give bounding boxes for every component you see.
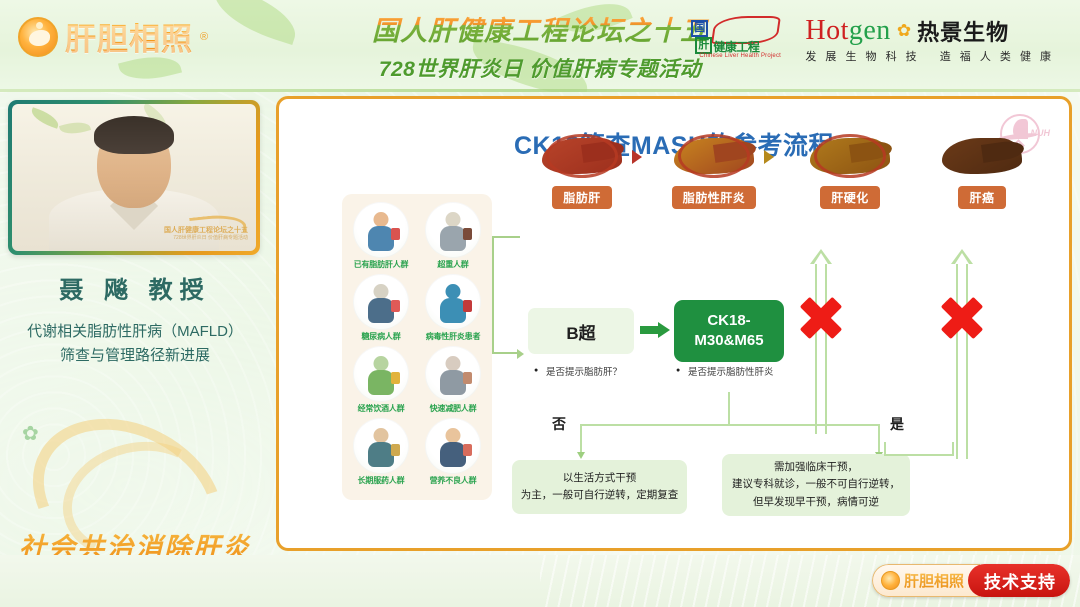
speaker-name: 聂 飚 教授 bbox=[0, 270, 270, 305]
liver-ring-icon bbox=[546, 134, 618, 178]
liver-stage-item: 脂肪肝 bbox=[522, 126, 642, 209]
reversal-arrow-cancer-foot bbox=[884, 442, 954, 456]
banner-title-line1: 国人肝健康工程论坛之十五 bbox=[330, 9, 750, 48]
event-banner: 国人肝健康工程论坛之十五 728世界肝炎日 价值肝病专题活动 bbox=[330, 9, 750, 83]
butterfly-icon: ✿ bbox=[897, 22, 911, 39]
clhp-english-name: Chinese Liver Health Project bbox=[699, 53, 781, 59]
note-ultrasound: 是否提示脂肪肝？ bbox=[546, 366, 666, 380]
liver-stage-item: 脂肪性肝炎 bbox=[654, 126, 774, 209]
alcohol-drinker-icon bbox=[353, 346, 409, 402]
tree-vertical-line bbox=[728, 392, 730, 426]
liver-stage-label: 肝癌 bbox=[958, 186, 1005, 209]
patient-group-item: 已有脂肪肝人群 bbox=[346, 202, 416, 270]
page-header: 肝胆相照 ® 国人肝健康工程论坛之十五 728世界肝炎日 价值肝病专题活动 国 … bbox=[0, 0, 1080, 92]
liver-illustration-icon bbox=[536, 126, 628, 182]
diabetes-person-icon bbox=[353, 274, 409, 330]
patient-group-label: 营养不良人群 bbox=[418, 476, 488, 486]
patient-group-label: 长期服药人群 bbox=[346, 476, 416, 486]
butterfly-icon: ✿ bbox=[22, 421, 39, 446]
tree-branch-right bbox=[878, 424, 880, 454]
hotgen-tagline-1: 发 展 生 物 科 技 bbox=[805, 51, 919, 63]
rapid-weightloss-icon bbox=[425, 346, 481, 402]
result-box-positive: 需加强临床干预， 建议专科就诊，一般不可自行逆转， 但早发现早干预，病情可逆 bbox=[722, 454, 910, 516]
ultrasound-to-ck18-arrow-icon bbox=[640, 322, 670, 338]
china-liver-health-project-logo: 国 肝 健康工程 Chinese Liver Health Project bbox=[689, 14, 789, 64]
liver-stage-item: 肝硬化 bbox=[790, 126, 910, 209]
registered-mark: ® bbox=[200, 31, 208, 43]
tree-arrow-left-icon bbox=[577, 452, 585, 459]
liver-stage-label: 脂肪性肝炎 bbox=[672, 186, 757, 209]
liver-stage-label: 脂肪肝 bbox=[552, 186, 612, 209]
leaf-decoration-icon bbox=[207, 0, 304, 45]
speaker-topic: 代谢相关脂肪性肝病（MAFLD） 筛查与管理路径新进展 bbox=[10, 320, 260, 368]
brand-logo[interactable]: 肝胆相照 ® bbox=[18, 14, 208, 59]
result-negative-line2: 为主，一般可自行逆转，定期复查 bbox=[521, 487, 679, 504]
speaker-topic-line2: 筛查与管理路径新进展 bbox=[10, 344, 260, 368]
patient-group-item: 糖尿病人群 bbox=[346, 274, 416, 342]
branch-label-no: 否 bbox=[552, 414, 566, 434]
liver-ring-icon bbox=[814, 134, 886, 178]
patient-group-label: 经常饮酒人群 bbox=[346, 404, 416, 414]
patient-group-item: 超重人群 bbox=[418, 202, 488, 270]
partner-logos: 国 肝 健康工程 Chinese Liver Health Project Ho… bbox=[689, 14, 1068, 64]
result-negative-line1: 以生活方式干预 bbox=[521, 470, 679, 487]
blocked-marker-icon bbox=[797, 294, 845, 342]
video-watermark: 国人肝健康工程论坛之十五 728世界肝炎日 价值肝病专题活动 bbox=[180, 215, 250, 243]
footer-brand-name: 肝胆相照 bbox=[904, 570, 964, 591]
clhp-mark-guo: 国 bbox=[691, 20, 708, 37]
patient-group-label: 糖尿病人群 bbox=[346, 332, 416, 342]
leaf-decoration-icon bbox=[59, 118, 91, 137]
speaker-topic-line1: 代谢相关脂肪性肝病（MAFLD） bbox=[10, 320, 260, 344]
hotgen-word-hot: Hot bbox=[805, 15, 849, 47]
note-ck18: 是否提示脂肪性肝炎 bbox=[688, 366, 788, 380]
presentation-slide[interactable]: NUH CK18筛查MASH的参考流程 已有脂肪肝人群超重人群糖尿病人群病毒性肝… bbox=[284, 104, 1064, 543]
branch-label-yes: 是 bbox=[890, 414, 904, 434]
result-positive-line3: 但早发现早干预，病情可逆 bbox=[732, 494, 900, 511]
tree-branch-left bbox=[580, 424, 582, 454]
malnutrition-person-icon bbox=[425, 418, 481, 474]
flow-step-ultrasound[interactable]: B超 bbox=[528, 308, 634, 354]
hotgen-logo: Hot gen ✿ 热景生物 发 展 生 物 科 技 造 福 人 类 健 康 bbox=[805, 15, 1068, 64]
tech-support-label: 技术支持 bbox=[968, 564, 1070, 597]
patient-groups-panel: 已有脂肪肝人群超重人群糖尿病人群病毒性肝炎患者经常饮酒人群快速减肥人群长期服药人… bbox=[342, 194, 492, 500]
groups-to-bchao-connector bbox=[492, 236, 520, 354]
patient-group-label: 超重人群 bbox=[418, 260, 488, 270]
hotgen-word-gen: gen bbox=[849, 15, 891, 47]
patient-group-label: 已有脂肪肝人群 bbox=[346, 260, 416, 270]
tech-support-badge[interactable]: 肝胆相照 技术支持 bbox=[872, 564, 1070, 597]
ck18-line2: M30&M65 bbox=[694, 331, 763, 351]
leaf-decoration-icon bbox=[29, 107, 61, 129]
hotgen-tagline: 发 展 生 物 科 技 造 福 人 类 健 康 bbox=[805, 48, 1068, 64]
liver-logo-icon bbox=[881, 571, 900, 590]
groups-to-bchao-arrowhead bbox=[517, 349, 524, 359]
patient-group-label: 快速减肥人群 bbox=[418, 404, 488, 414]
blocked-marker-icon bbox=[938, 294, 986, 342]
banner-title-line2: 728世界肝炎日 价值肝病专题活动 bbox=[330, 53, 750, 83]
liver-illustration-icon bbox=[668, 126, 760, 182]
stage-arrow-icon bbox=[632, 150, 642, 164]
result-positive-line1: 需加强临床干预， bbox=[732, 459, 900, 476]
hotgen-tagline-2: 造 福 人 类 健 康 bbox=[940, 51, 1054, 63]
patient-group-item: 快速减肥人群 bbox=[418, 346, 488, 414]
patient-group-item: 病毒性肝炎患者 bbox=[418, 274, 488, 342]
long-term-medication-icon bbox=[353, 418, 409, 474]
overweight-person-icon bbox=[425, 202, 481, 258]
liver-progression: 脂肪肝脂肪性肝炎肝硬化肝癌 bbox=[522, 126, 1062, 236]
liver-stage-item: 肝癌 bbox=[922, 126, 1042, 209]
brand-name: 肝胆相照 bbox=[65, 14, 193, 59]
patient-group-label: 病毒性肝炎患者 bbox=[418, 332, 488, 342]
flow-step-ck18[interactable]: CK18- M30&M65 bbox=[674, 300, 784, 362]
speaker-sidebar: 国人肝健康工程论坛之十五 728世界肝炎日 价值肝病专题活动 聂 飚 教授 代谢… bbox=[0, 92, 270, 607]
page-footer: 肝胆相照 技术支持 bbox=[0, 555, 1080, 607]
liver-illustration-icon bbox=[936, 126, 1028, 182]
patient-group-item: 经常饮酒人群 bbox=[346, 346, 416, 414]
patient-group-item: 长期服药人群 bbox=[346, 418, 416, 486]
result-positive-line2: 建议专科就诊，一般不可自行逆转， bbox=[732, 476, 900, 493]
speaker-video-panel[interactable]: 国人肝健康工程论坛之十五 728世界肝炎日 价值肝病专题活动 bbox=[8, 100, 260, 255]
patient-groups-grid: 已有脂肪肝人群超重人群糖尿病人群病毒性肝炎患者经常饮酒人群快速减肥人群长期服药人… bbox=[346, 202, 488, 486]
stage-arrow-icon bbox=[764, 150, 774, 164]
speaker-hair bbox=[94, 116, 174, 154]
liver-ring-icon bbox=[678, 134, 750, 178]
liver-logo-icon bbox=[18, 17, 58, 57]
hotgen-chinese-name: 热景生物 bbox=[917, 15, 1009, 47]
liver-illustration-icon bbox=[804, 126, 896, 182]
tech-support-brand: 肝胆相照 bbox=[872, 564, 980, 597]
obese-person-icon bbox=[353, 202, 409, 258]
presentation-slide-frame[interactable]: NUH CK18筛查MASH的参考流程 已有脂肪肝人群超重人群糖尿病人群病毒性肝… bbox=[276, 96, 1072, 551]
ck18-line1: CK18- bbox=[694, 311, 763, 331]
speaker-video-feed[interactable]: 国人肝健康工程论坛之十五 728世界肝炎日 价值肝病专题活动 bbox=[12, 104, 256, 251]
viral-hepatitis-icon bbox=[425, 274, 481, 330]
clhp-mark-gan: 肝 bbox=[695, 37, 712, 54]
liver-stage-label: 肝硬化 bbox=[820, 186, 880, 209]
reversal-arrow-cancer bbox=[942, 249, 982, 459]
patient-group-item: 营养不良人群 bbox=[418, 418, 488, 486]
video-watermark-sub: 728世界肝炎日 价值肝病专题活动 bbox=[173, 234, 248, 241]
result-box-negative: 以生活方式干预 为主，一般可自行逆转，定期复查 bbox=[512, 460, 687, 514]
